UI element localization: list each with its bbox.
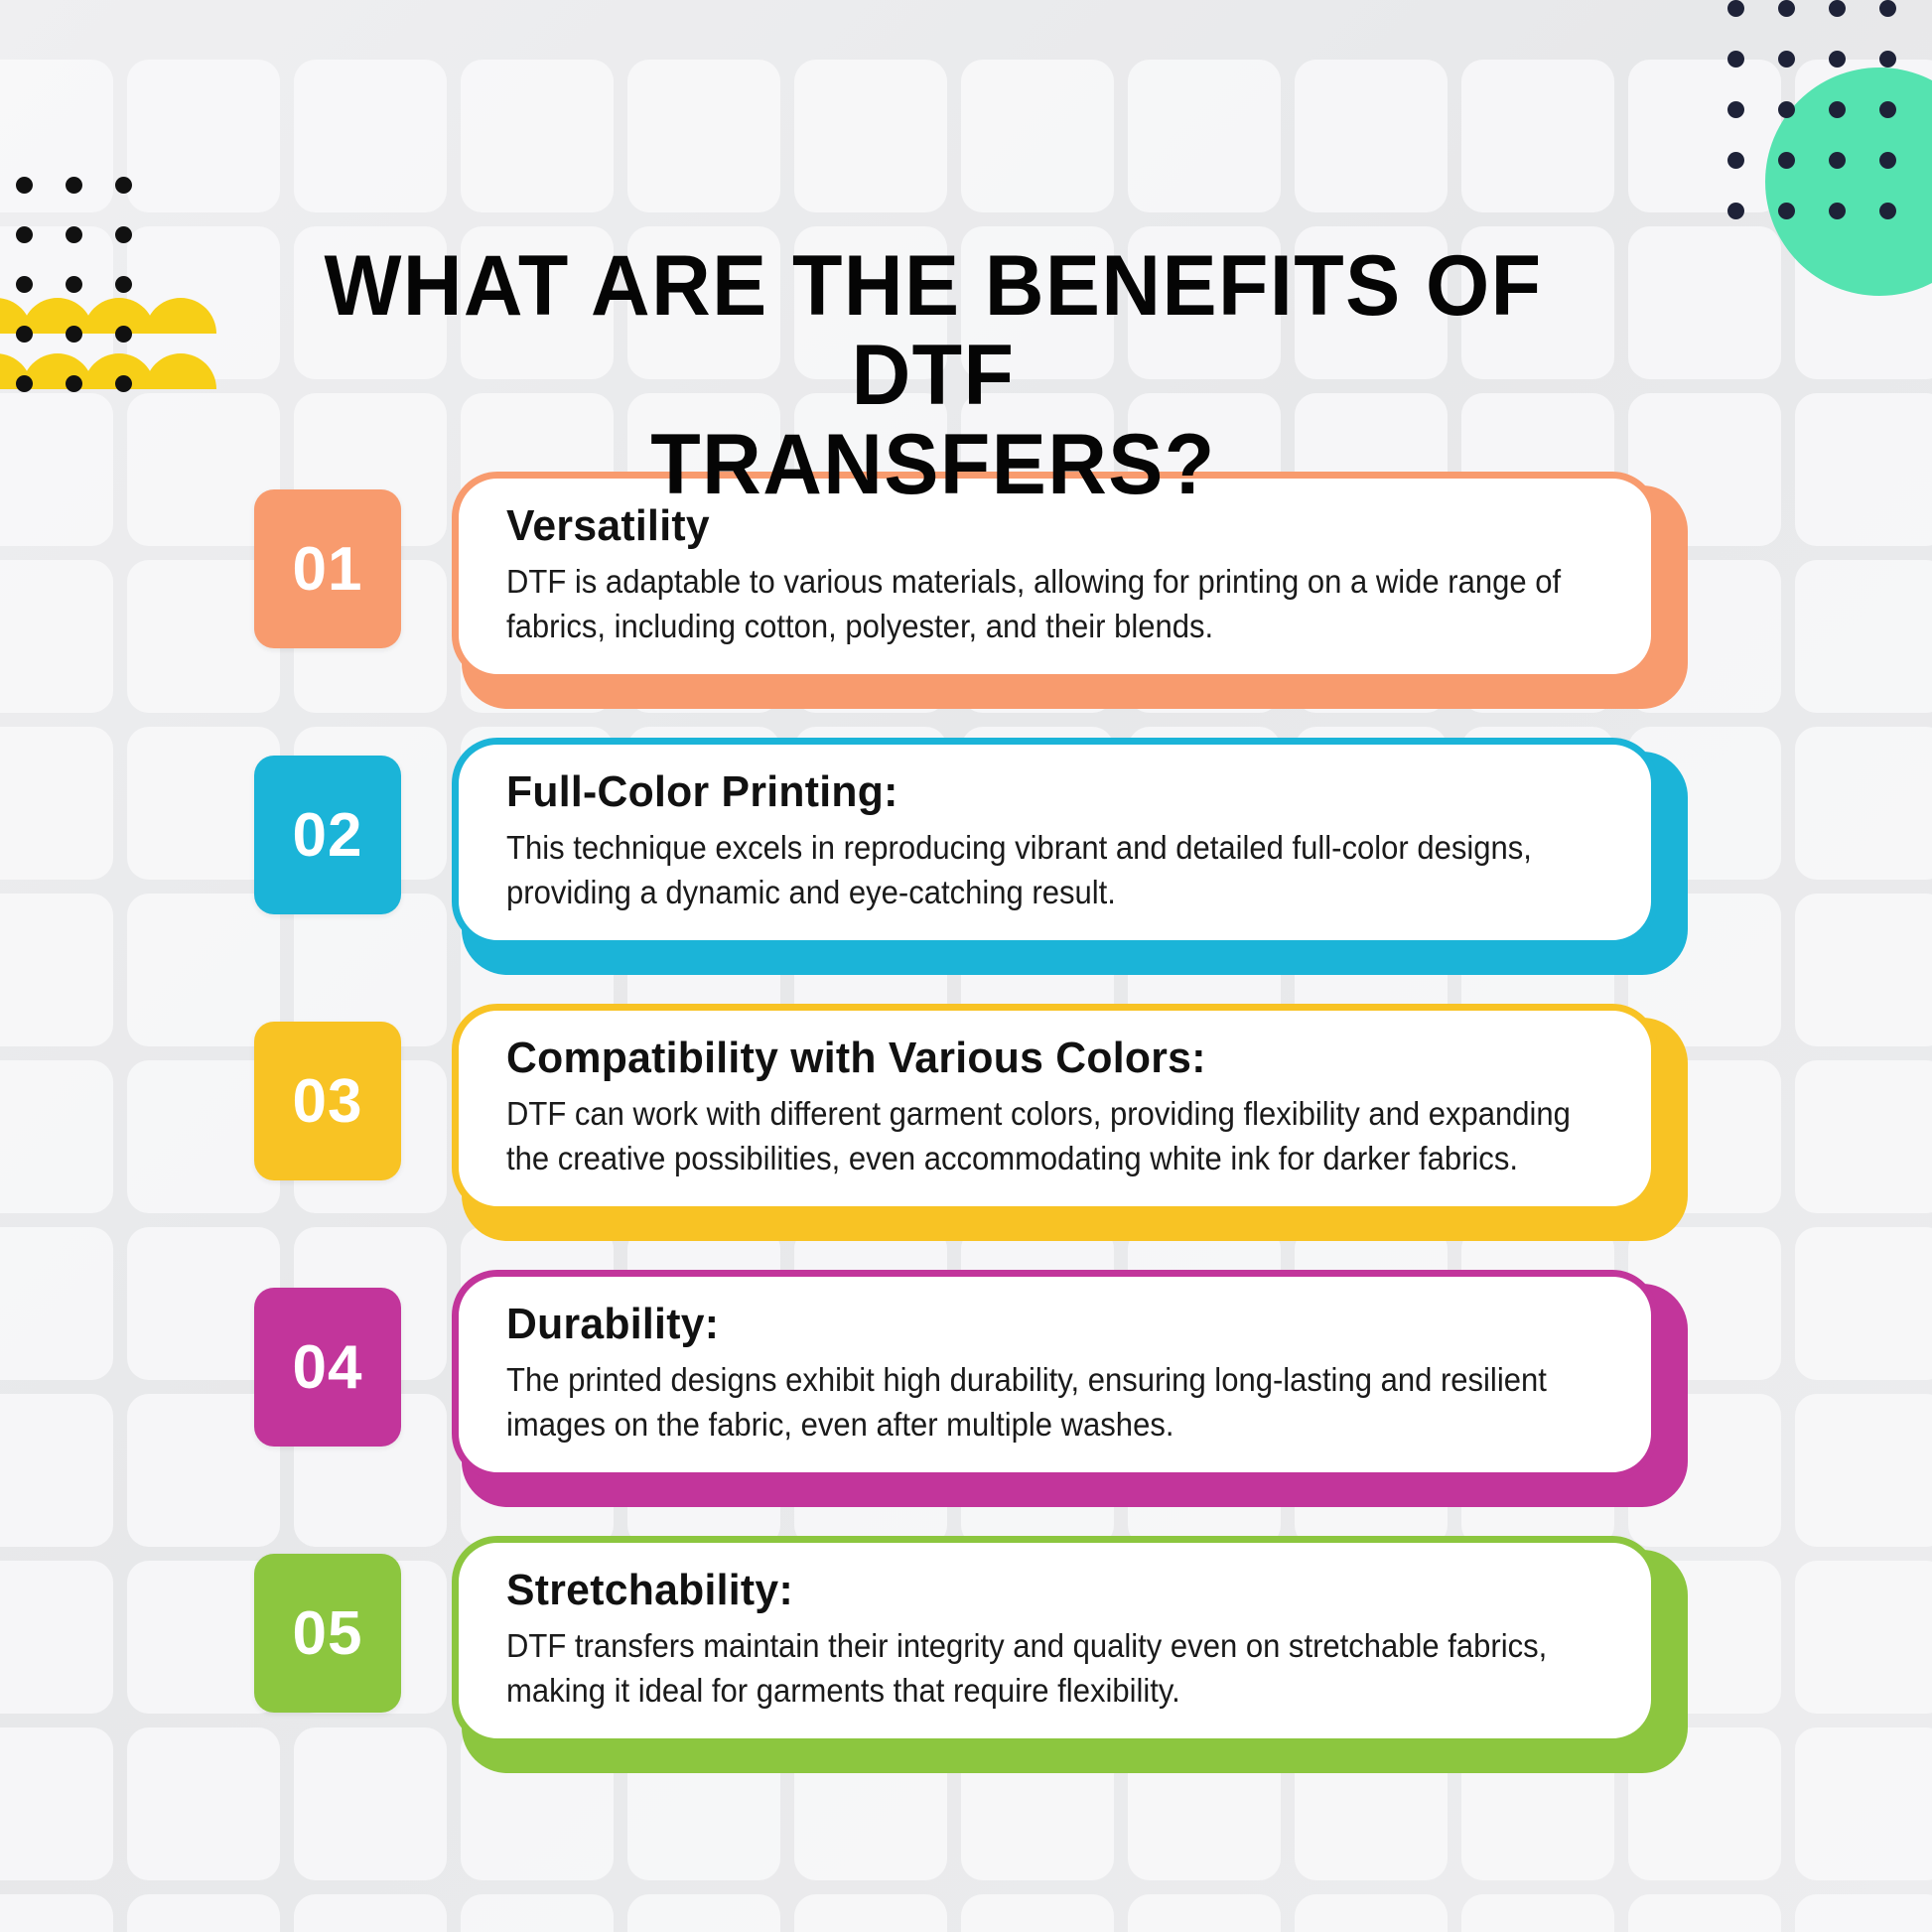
grid-tile <box>1295 60 1448 212</box>
decor-dot <box>16 177 33 194</box>
benefit-number-badge: 03 <box>254 1022 401 1180</box>
benefit-number-badge: 02 <box>254 756 401 914</box>
benefit-heading: Full-Color Printing: <box>506 768 1575 816</box>
grid-tile <box>1628 226 1781 379</box>
grid-tile <box>127 1894 280 1932</box>
yellow-semicircle <box>0 298 32 334</box>
decor-dot <box>66 226 82 243</box>
decor-dot <box>1778 0 1795 17</box>
yellow-semicircle <box>22 353 93 389</box>
infographic-canvas: WHAT ARE THE BENEFITS OF DTF TRANSFERS? … <box>0 0 1932 1932</box>
benefit-card[interactable]: Full-Color Printing:This technique excel… <box>452 738 1658 947</box>
grid-tile <box>627 60 780 212</box>
page-title: WHAT ARE THE BENEFITS OF DTF TRANSFERS? <box>256 241 1609 510</box>
decor-dot <box>1778 51 1795 68</box>
grid-tile <box>0 60 113 212</box>
grid-tile <box>1461 1894 1614 1932</box>
grid-tile <box>961 1894 1114 1932</box>
benefit-number-badge: 01 <box>254 489 401 648</box>
decor-dot <box>1879 0 1896 17</box>
yellow-semicircle <box>145 353 216 389</box>
grid-tile <box>794 1894 947 1932</box>
benefit-row: Full-Color Printing:This technique excel… <box>0 718 1932 984</box>
yellow-semicircle <box>83 298 155 334</box>
benefit-card[interactable]: Durability:The printed designs exhibit h… <box>452 1270 1658 1479</box>
decor-dot <box>66 375 82 392</box>
decor-dot <box>1829 51 1846 68</box>
benefit-card[interactable]: Stretchability:DTF transfers maintain th… <box>452 1536 1658 1745</box>
decor-dot <box>66 326 82 343</box>
benefit-body: DTF transfers maintain their integrity a… <box>506 1624 1603 1712</box>
decor-dot <box>16 226 33 243</box>
decor-dot <box>66 177 82 194</box>
benefit-body: This technique excels in reproducing vib… <box>506 826 1603 913</box>
decor-dot <box>115 177 132 194</box>
decor-dot <box>115 326 132 343</box>
grid-tile <box>794 60 947 212</box>
grid-tile <box>1628 1894 1781 1932</box>
decor-dot <box>1829 0 1846 17</box>
yellow-semicircle-pattern <box>0 298 189 427</box>
grid-tile <box>1461 60 1614 212</box>
benefit-body: DTF can work with different garment colo… <box>506 1092 1603 1179</box>
mint-circle <box>1765 68 1932 296</box>
decor-dot <box>1727 203 1744 219</box>
benefit-heading: Stretchability: <box>506 1567 1575 1614</box>
yellow-semicircle <box>145 298 216 334</box>
decor-dot <box>16 326 33 343</box>
grid-tile <box>294 1894 447 1932</box>
grid-tile <box>627 1894 780 1932</box>
decor-dot <box>16 276 33 293</box>
benefit-row: Stretchability:DTF transfers maintain th… <box>0 1516 1932 1782</box>
yellow-semicircle <box>22 298 93 334</box>
grid-tile <box>1128 1894 1281 1932</box>
benefit-body: DTF is adaptable to various materials, a… <box>506 560 1603 647</box>
decor-dot <box>1727 101 1744 118</box>
grid-tile <box>961 60 1114 212</box>
grid-tile <box>461 1894 614 1932</box>
decor-dot <box>16 375 33 392</box>
decor-dot <box>1879 51 1896 68</box>
decor-dot <box>115 375 132 392</box>
page-title-line-1: WHAT ARE THE BENEFITS OF DTF <box>324 238 1542 423</box>
benefit-card[interactable]: Compatibility with Various Colors:DTF ca… <box>452 1004 1658 1213</box>
yellow-semicircle <box>83 353 155 389</box>
grid-tile <box>461 60 614 212</box>
benefit-row: Durability:The printed designs exhibit h… <box>0 1250 1932 1516</box>
grid-tile <box>1128 60 1281 212</box>
decor-dot <box>1727 0 1744 17</box>
grid-tile <box>0 226 113 379</box>
yellow-semicircle <box>0 353 32 389</box>
decor-dot <box>1727 152 1744 169</box>
black-dot-grid <box>16 177 185 395</box>
grid-tile <box>1628 60 1781 212</box>
decor-dot <box>115 276 132 293</box>
benefit-number-badge: 04 <box>254 1288 401 1447</box>
decor-dot <box>1727 51 1744 68</box>
benefit-row: Compatibility with Various Colors:DTF ca… <box>0 984 1932 1250</box>
decor-dot <box>66 276 82 293</box>
grid-tile <box>127 60 280 212</box>
benefits-list: VersatilityDTF is adaptable to various m… <box>0 452 1932 1782</box>
grid-tile <box>0 1894 113 1932</box>
decor-dot <box>115 226 132 243</box>
benefit-heading: Durability: <box>506 1301 1575 1348</box>
page-title-line-2: TRANSFERS? <box>650 417 1215 512</box>
benefit-number-badge: 05 <box>254 1554 401 1713</box>
grid-tile <box>1295 1894 1448 1932</box>
benefit-body: The printed designs exhibit high durabil… <box>506 1358 1603 1446</box>
grid-tile <box>294 60 447 212</box>
benefit-heading: Compatibility with Various Colors: <box>506 1035 1575 1082</box>
grid-tile <box>1795 1894 1932 1932</box>
